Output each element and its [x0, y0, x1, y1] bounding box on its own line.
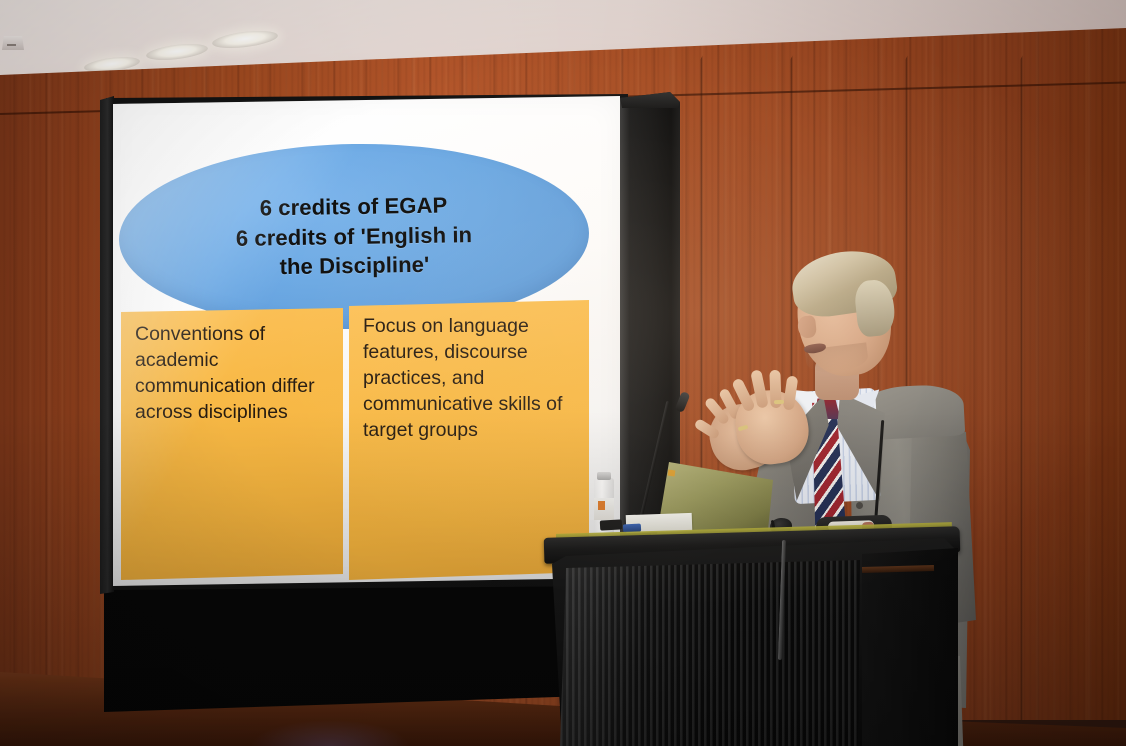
laptop-logo-icon — [668, 470, 676, 477]
floor-light-reflection — [250, 720, 410, 746]
presentation-photo: 6 credits of EGAP 6 credits of 'English … — [0, 0, 1126, 746]
lectern-slat-highlight — [560, 560, 866, 746]
jacket-button — [856, 502, 863, 509]
desk-device — [600, 519, 622, 530]
ellipse-line-3: the Discipline' — [236, 249, 473, 282]
ellipse-line-2: 6 credits of 'English in — [236, 220, 473, 253]
bottle-cap — [597, 472, 611, 480]
bottle-label — [594, 498, 614, 520]
ellipse-line-1: 6 credits of EGAP — [235, 190, 472, 223]
slide-box-right-text: Focus on language features, discourse pr… — [363, 314, 579, 444]
finger-ring — [774, 400, 784, 404]
screen-left-edge — [100, 94, 114, 594]
slide-box-left-text: Conventions of academic communication di… — [135, 322, 333, 426]
slide-box-left: Conventions of academic communication di… — [121, 308, 343, 580]
presentation-slide: 6 credits of EGAP 6 credits of 'English … — [113, 96, 620, 586]
lectern-side-panel — [862, 548, 958, 746]
slide-ellipse-text: 6 credits of EGAP 6 credits of 'English … — [235, 190, 473, 282]
